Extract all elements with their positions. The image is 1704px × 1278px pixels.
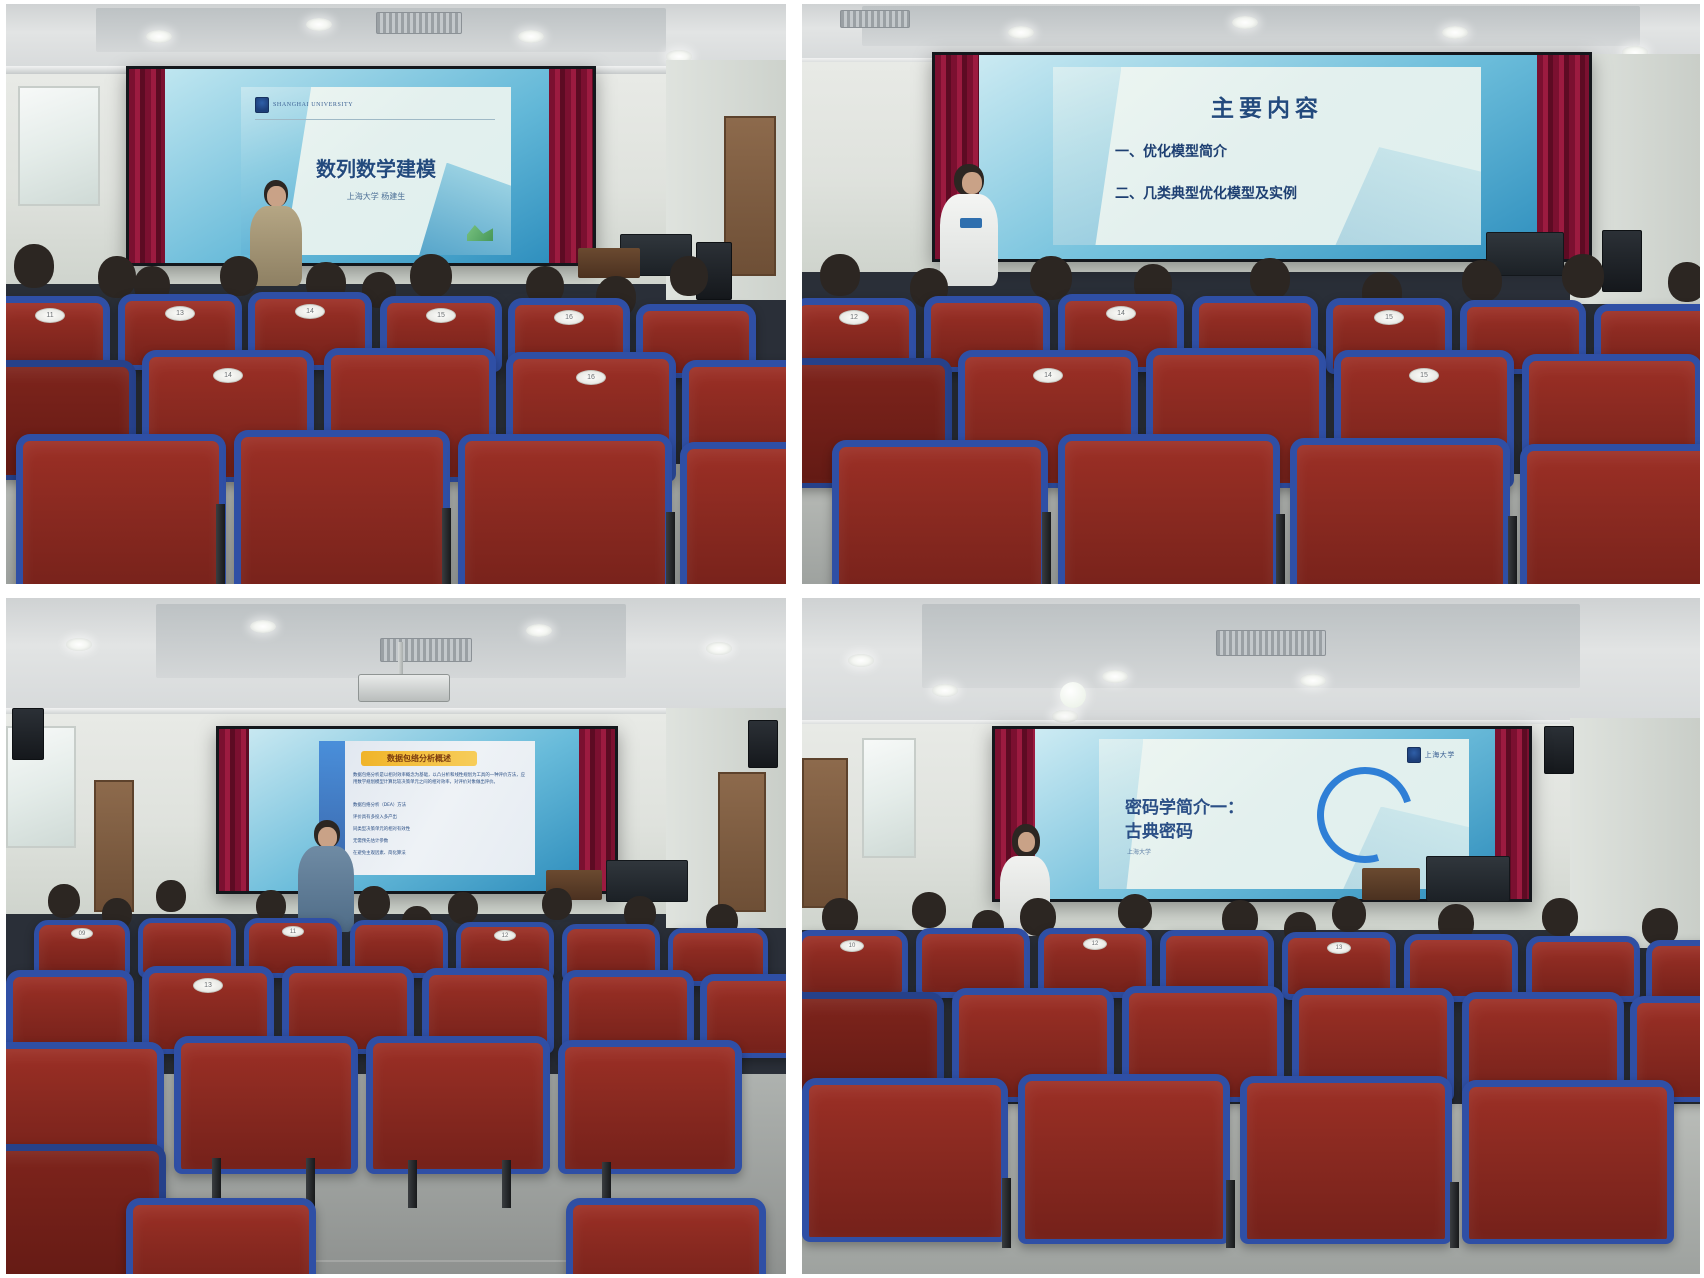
lecture-hall-room: 上海大学 密码学简介一： 古典密码 上海大学 [802,598,1700,1274]
seat [16,434,226,584]
seat-back [1520,444,1700,584]
seat-number: 14 [1106,306,1136,321]
audience-head [14,244,54,288]
projector-mount [398,642,403,678]
seat-back [558,1040,742,1174]
seat-back [174,1036,358,1174]
presenter-face [1018,832,1035,852]
seat [832,440,1048,584]
slide-title-line-2: 古典密码 [1125,817,1193,842]
seat [1462,1080,1674,1244]
seat-back [234,430,450,584]
projection-stage: SHANGHAI UNIVERSITY 数列数学建模 上海大学 杨建生 [126,66,596,266]
seat-leg [666,512,675,584]
ceiling-projector [358,674,450,702]
seat-number: 13 [1327,942,1351,954]
seat-number: 14 [213,368,243,383]
audience-head [448,892,478,924]
seat-leg [442,508,451,584]
seat-back [16,434,226,584]
curtain-right [549,69,593,263]
pendant-lamp [1060,682,1086,708]
seat-leg [216,504,225,584]
seat [802,1078,1008,1242]
downlight [526,624,552,637]
slide-bullet-2: 评价具有多投入多产出 [353,815,525,822]
slide-title-line-1: 密码学简介一： [1125,793,1244,818]
seat-back [1240,1076,1452,1244]
side-wall [1570,718,1700,948]
seat-number: 13 [193,978,223,993]
ceiling-vent [380,638,472,662]
downlight [1052,710,1078,723]
audience-head [98,256,136,298]
audience-head [820,254,860,296]
downlight [1008,26,1034,39]
slide-title: 数列数学建模 [241,153,511,182]
seat-leg [502,1160,511,1208]
podium [578,248,640,278]
downlight [146,30,172,43]
panel-bottom-right: 上海大学 密码学简介一： 古典密码 上海大学 [802,598,1700,1274]
downlight [1232,16,1258,29]
downlight [932,684,958,697]
seat-back [6,296,110,370]
seat-leg [1226,1180,1235,1248]
downlight [1300,674,1326,687]
seat-back [832,440,1048,584]
seat [1646,940,1700,1004]
downlight [1442,26,1468,39]
presenter [938,164,1002,284]
seat [126,1198,316,1274]
audience-head [1562,254,1604,298]
seat-back [680,442,786,584]
shirt-graphic [960,218,982,228]
door [718,772,766,912]
seat-number: 15 [426,308,456,323]
seat-leg [408,1160,417,1208]
seat-number: 11 [35,308,65,323]
audience-head [912,892,946,928]
seat-number: 16 [554,310,584,325]
downlight [848,654,874,667]
ceiling-vent [840,10,910,28]
ceiling-vent [376,12,462,34]
door [94,780,134,912]
seat-number: 12 [1083,938,1107,950]
seat-back [1058,434,1280,584]
audience-head [542,888,572,920]
audience-head [1462,260,1502,302]
presenter [296,820,358,930]
seat-back [1290,438,1510,584]
panel-top-right: 主要内容 一、优化模型简介 二、几类典型优化模型及实例 [802,4,1700,584]
seat-back [366,1036,550,1174]
seat: 10 [802,930,908,998]
audience-head [156,880,186,912]
seat-leg [1042,512,1051,584]
audience-head [1118,894,1152,930]
door [802,758,848,908]
panel-top-left: SHANGHAI UNIVERSITY 数列数学建模 上海大学 杨建生 [6,4,786,584]
slide-logo-text: SHANGHAI UNIVERSITY [273,102,353,108]
downlight [1102,670,1128,683]
seat-leg [1450,1182,1459,1248]
slide-subtitle: 上海大学 [1127,847,1151,856]
av-equipment-rack [1426,856,1510,902]
window [18,86,100,206]
seat-leg [1508,516,1517,584]
seat-back [1018,1074,1230,1244]
seat-back [566,1198,766,1274]
projection-stage: 主要内容 一、优化模型简介 二、几类典型优化模型及实例 [932,52,1592,262]
downlight [306,18,332,31]
seat-number: 11 [282,926,304,937]
wall-loudspeaker [1544,726,1574,774]
lecture-hall-room: SHANGHAI UNIVERSITY 数列数学建模 上海大学 杨建生 [6,4,786,584]
presenter-face [962,172,982,194]
seat-number: 14 [1033,368,1063,383]
seat [1520,444,1700,584]
ceiling-vent [1216,630,1326,656]
seat-number: 16 [576,370,606,385]
university-crest-icon [1407,747,1421,763]
curtain-left [129,69,165,263]
seat-number: 10 [840,940,864,952]
wall-loudspeaker [12,708,44,760]
seat-leg [1002,1178,1011,1248]
seat: 11 [6,296,110,370]
wall-loudspeaker [748,720,778,768]
audience-head [1250,258,1290,300]
seat [558,1040,742,1174]
presenter-torso [940,194,998,286]
seat-number: 13 [165,306,195,321]
seat-number: 12 [494,930,516,941]
lecture-hall-room: 数据包络分析概述 数据包络分析是以相对效率概念为基础，以凸分析和线性规划为工具的… [6,598,786,1274]
slide-body: 数据包络分析是以相对效率概念为基础，以凸分析和线性规划为工具的一种评价方法，应用… [353,773,525,787]
seat [566,1198,766,1274]
seat [1290,438,1510,584]
shanghai-university-logo: SHANGHAI UNIVERSITY [255,97,353,113]
curtain-right [1537,55,1589,259]
slide-banner: 数据包络分析概述 [361,751,477,766]
audience-head [1332,896,1366,932]
slide-divider [255,119,495,120]
audience-head [48,884,80,918]
downlight [518,30,544,43]
seat [1240,1076,1452,1244]
slide-2: 主要内容 一、优化模型简介 二、几类典型优化模型及实例 [1053,67,1481,245]
audience-head [358,886,390,920]
lecture-hall-room: 主要内容 一、优化模型简介 二、几类典型优化模型及实例 [802,4,1700,584]
audience-head [410,254,452,298]
seat [366,1036,550,1174]
projection-stage: 数据包络分析概述 数据包络分析是以相对效率概念为基础，以凸分析和线性规划为工具的… [216,726,618,894]
seat-leg [1276,514,1285,584]
audience-head [1668,262,1700,302]
seat-back [458,434,672,584]
seat-number: 12 [839,310,869,325]
av-equipment-rack [606,860,688,902]
shanghai-university-logo: 上海大学 [1407,747,1455,763]
slide-logo-text: 上海大学 [1425,750,1455,760]
photo-collage: SHANGHAI UNIVERSITY 数列数学建模 上海大学 杨建生 [0,0,1704,1278]
slide-bullet-1: 数据包络分析（DEA）方法 [353,803,525,810]
seat-back [1462,1080,1674,1244]
university-crest-icon [255,97,269,113]
seat-number: 09 [71,928,93,939]
seat-number: 15 [1374,310,1404,325]
seat-back [802,1078,1008,1242]
downlight [66,638,92,651]
slide-bullet-5: 在避免主观因素、简化算法 [353,851,525,858]
seat-number: 14 [295,304,325,319]
slide-title: 主要内容 [1053,89,1481,123]
seat [234,430,450,584]
seat [174,1036,358,1174]
audience-head [220,256,258,296]
curtain-left [219,729,249,891]
panel-bottom-left: 数据包络分析概述 数据包络分析是以相对效率概念为基础，以凸分析和线性规划为工具的… [6,598,786,1274]
seat-number: 15 [1409,368,1439,383]
presenter-face [318,827,337,848]
downlight [250,620,276,633]
audience-head [1542,898,1578,936]
slide-bullet-1: 一、优化模型简介 [1115,141,1227,161]
loudspeaker [1602,230,1642,292]
podium [1362,868,1420,900]
seat [458,434,672,584]
seat-back [1646,940,1700,1004]
slide-decoration [1335,147,1481,245]
seat [680,442,786,584]
seat [1018,1074,1230,1244]
slide-4: 上海大学 密码学简介一： 古典密码 上海大学 [1099,739,1469,889]
window [862,738,916,858]
seat-back [126,1198,316,1274]
slide-bullet-3: 同类型决策单元的相对有效性 [353,827,525,834]
seat [1058,434,1280,584]
audience-head [670,256,708,296]
slide-bullet-4: 无需预先估计参数 [353,839,525,846]
presenter-face [267,186,286,207]
slide-bullet-2: 二、几类典型优化模型及实例 [1115,183,1297,203]
downlight [706,642,732,655]
